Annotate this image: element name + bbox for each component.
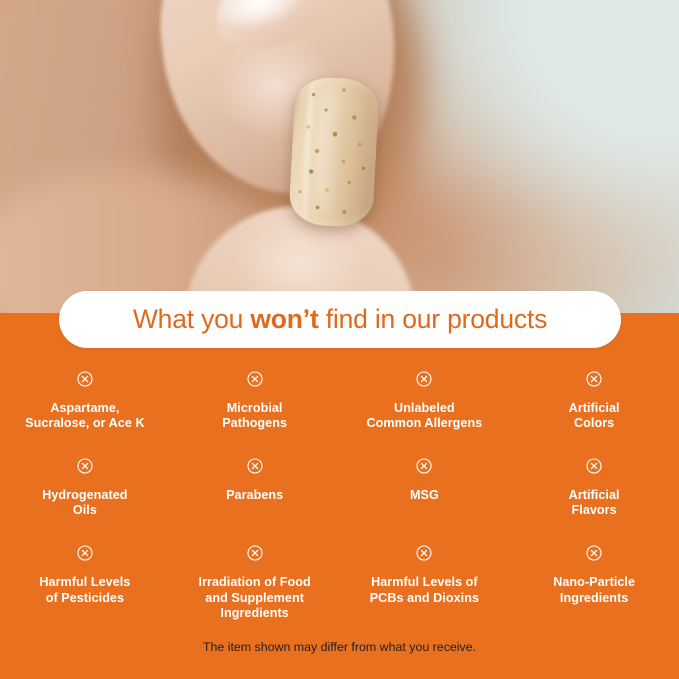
exclusions-grid: Aspartame,Sucralose, or Ace KMicrobialPa… [0,371,679,621]
tablet-body [288,76,380,228]
circle-x-icon [247,371,263,392]
exclusion-item: HydrogenatedOils [0,458,170,518]
headline-text: What you won’t find in our products [133,304,547,335]
circle-x-icon [586,458,602,479]
exclusion-label: MSG [410,488,439,503]
circle-x-icon [416,371,432,392]
exclusion-item: Irradiation of Foodand SupplementIngredi… [170,545,340,620]
exclusion-item: Harmful Levels ofPCBs and Dioxins [340,545,510,620]
headline-part-bold: won’t [250,304,318,334]
exclusion-item: MSG [340,458,510,518]
circle-x-icon [416,545,432,566]
exclusion-label: Aspartame,Sucralose, or Ace K [25,401,144,431]
exclusion-label: ArtificialFlavors [569,488,620,518]
exclusion-item: Nano-ParticleIngredients [509,545,679,620]
exclusion-label: Harmful Levelsof Pesticides [39,575,130,605]
exclusion-label: Parabens [226,488,283,503]
exclusions-row: Harmful Levelsof PesticidesIrradiation o… [0,545,679,620]
circle-x-icon [77,458,93,479]
exclusion-label: Harmful Levels ofPCBs and Dioxins [370,575,479,605]
circle-x-icon [416,458,432,479]
headline-part-before: What you [133,304,251,334]
headline-banner: What you won’t find in our products [59,291,621,348]
exclusion-item: Aspartame,Sucralose, or Ace K [0,371,170,431]
exclusion-label: HydrogenatedOils [42,488,127,518]
circle-x-icon [247,458,263,479]
exclusion-item: MicrobialPathogens [170,371,340,431]
exclusion-label: ArtificialColors [569,401,620,431]
circle-x-icon [77,545,93,566]
supplement-tablet [288,76,380,228]
exclusion-item: UnlabeledCommon Allergens [340,371,510,431]
exclusions-row: Aspartame,Sucralose, or Ace KMicrobialPa… [0,371,679,431]
exclusion-item: Parabens [170,458,340,518]
circle-x-icon [247,545,263,566]
headline-part-after: find in our products [319,304,548,334]
exclusion-item: ArtificialFlavors [509,458,679,518]
product-photo [0,0,679,316]
exclusion-item: ArtificialColors [509,371,679,431]
exclusion-label: UnlabeledCommon Allergens [366,401,482,431]
circle-x-icon [586,371,602,392]
exclusion-label: MicrobialPathogens [222,401,287,431]
exclusion-item: Harmful Levelsof Pesticides [0,545,170,620]
exclusion-label: Nano-ParticleIngredients [553,575,635,605]
exclusions-row: HydrogenatedOilsParabensMSGArtificialFla… [0,458,679,518]
circle-x-icon [586,545,602,566]
disclaimer-text: The item shown may differ from what you … [0,640,679,654]
exclusion-label: Irradiation of Foodand SupplementIngredi… [199,575,311,620]
circle-x-icon [77,371,93,392]
